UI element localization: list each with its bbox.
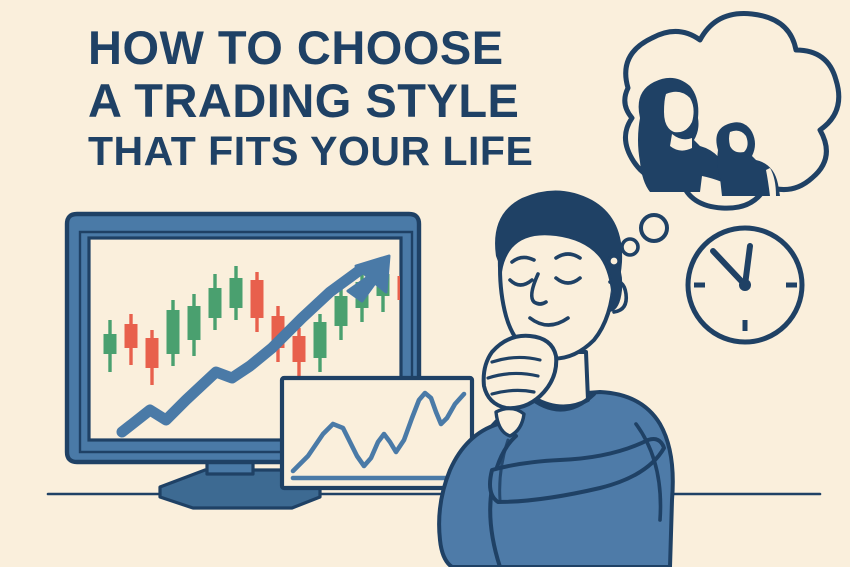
wall-clock <box>688 228 802 342</box>
candle-body <box>251 280 264 318</box>
candle-body <box>293 336 306 362</box>
candle-body <box>188 306 201 340</box>
candle-body <box>335 296 348 326</box>
candle-body <box>104 334 117 354</box>
candle-body <box>167 310 180 354</box>
candle-body <box>230 278 243 308</box>
clock-center-pin <box>739 279 751 291</box>
candle-body <box>146 338 159 368</box>
thought-bubble-medium <box>622 239 638 255</box>
woman-face-notch <box>664 92 694 133</box>
candle-body <box>209 288 222 318</box>
thought-bubble-small <box>609 256 619 266</box>
thought-bubble-large <box>641 215 667 241</box>
poster-illustration: HOW TO CHOOSE A TRADING STYLE THAT FITS … <box>0 0 850 567</box>
tablet-device <box>282 378 472 488</box>
candle-body <box>125 324 138 348</box>
candle-body <box>314 322 327 358</box>
tablet-body <box>282 378 472 488</box>
illustration-canvas <box>0 0 850 567</box>
